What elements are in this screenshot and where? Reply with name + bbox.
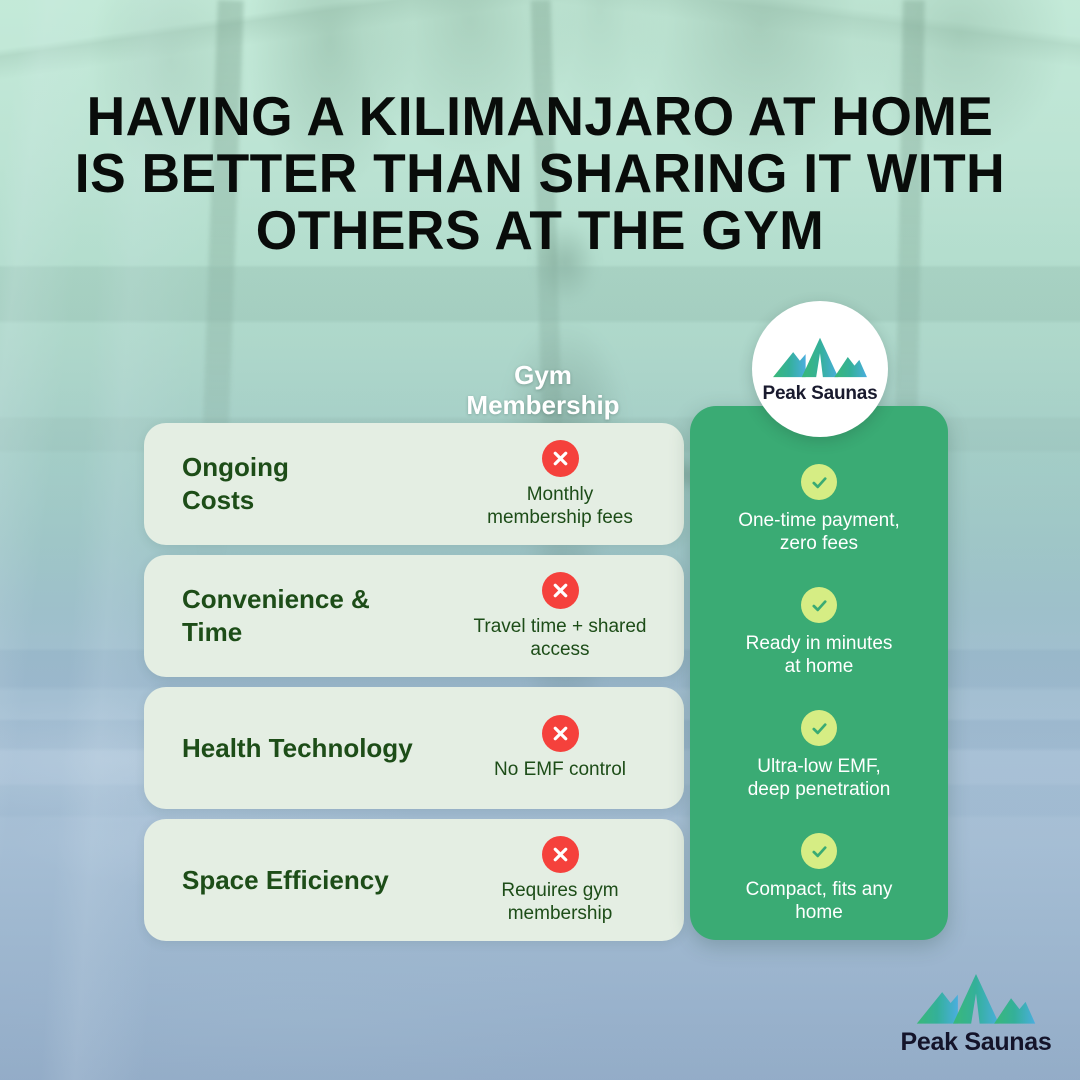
row-label-line-1: Space Efficiency	[182, 864, 444, 897]
row-label-line-2: Time	[182, 616, 444, 649]
row-gym-text-line-1: Requires gym	[501, 879, 618, 902]
column-header-gym-line-1: Gym	[418, 360, 668, 390]
panel-text-line-2: at home	[746, 655, 893, 678]
brand-wordmark: Peak Saunas	[901, 1028, 1052, 1057]
row-label-line-1: Health Technology	[182, 732, 444, 765]
panel-text-line-1: Ready in minutes	[746, 632, 893, 655]
row-label: Ongoing Costs	[144, 451, 444, 517]
x-circle-icon	[542, 715, 579, 752]
row-gym-cell: Travel time + shared access	[444, 572, 684, 661]
panel-cell: Ultra-low EMF, deep penetration	[690, 694, 948, 817]
row-label-line-1: Convenience &	[182, 583, 444, 616]
comparison-rows: Ongoing Costs Monthly membership fees Co…	[144, 423, 684, 951]
panel-text: Compact, fits any home	[746, 878, 893, 924]
row-gym-text: Travel time + shared access	[473, 615, 646, 661]
panel-cell: Compact, fits any home	[690, 817, 948, 940]
page-title: HAVING A KILIMANJARO AT HOME IS BETTER T…	[65, 88, 1016, 259]
brand-logo-footer: Peak Saunas	[888, 968, 1064, 1057]
headline-line-2: IS BETTER THAN SHARING IT WITH	[65, 145, 1016, 202]
headline-line-1: HAVING A KILIMANJARO AT HOME	[65, 88, 1016, 145]
row-label: Convenience & Time	[144, 583, 444, 649]
panel-text: Ultra-low EMF, deep penetration	[748, 755, 891, 801]
headline-line-3: OTHERS AT THE GYM	[65, 202, 1016, 259]
column-header-gym-line-2: Membership	[418, 390, 668, 420]
row-gym-text-line-2: membership fees	[487, 506, 633, 529]
panel-text: One-time payment, zero fees	[738, 509, 900, 555]
row-label: Health Technology	[144, 732, 444, 765]
brand-badge: Peak Saunas	[752, 301, 888, 437]
panel-text-line-1: One-time payment,	[738, 509, 900, 532]
panel-text-line-2: home	[746, 901, 893, 924]
row-gym-text-line-1: Monthly	[487, 483, 633, 506]
row-gym-cell: No EMF control	[444, 715, 684, 781]
peak-saunas-panel: One-time payment, zero fees Ready in min…	[690, 406, 948, 940]
row-gym-cell: Monthly membership fees	[444, 440, 684, 529]
row-gym-text-line-1: No EMF control	[494, 758, 626, 781]
panel-text: Ready in minutes at home	[746, 632, 893, 678]
brand-wordmark: Peak Saunas	[762, 383, 877, 405]
table-row: Health Technology No EMF control	[144, 687, 684, 809]
row-gym-text-line-1: Travel time + shared	[473, 615, 646, 638]
panel-text-line-2: zero fees	[738, 532, 900, 555]
row-label-line-2: Costs	[182, 484, 444, 517]
table-row: Ongoing Costs Monthly membership fees	[144, 423, 684, 545]
column-header-gym: Gym Membership	[418, 360, 668, 420]
table-row: Convenience & Time Travel time + shared …	[144, 555, 684, 677]
row-gym-text: Requires gym membership	[501, 879, 618, 925]
x-circle-icon	[542, 836, 579, 873]
panel-text-line-1: Ultra-low EMF,	[748, 755, 891, 778]
mountain-icon	[772, 333, 868, 379]
x-circle-icon	[542, 572, 579, 609]
panel-text-line-2: deep penetration	[748, 778, 891, 801]
row-gym-text: No EMF control	[494, 758, 626, 781]
panel-text-line-1: Compact, fits any	[746, 878, 893, 901]
table-row: Space Efficiency Requires gym membership	[144, 819, 684, 941]
x-circle-icon	[542, 440, 579, 477]
row-gym-text: Monthly membership fees	[487, 483, 633, 529]
row-gym-text-line-2: access	[473, 638, 646, 661]
check-circle-icon	[801, 464, 837, 500]
row-label: Space Efficiency	[144, 864, 444, 897]
row-gym-cell: Requires gym membership	[444, 836, 684, 925]
row-label-line-1: Ongoing	[182, 451, 444, 484]
row-gym-text-line-2: membership	[501, 902, 618, 925]
infographic-canvas: HAVING A KILIMANJARO AT HOME IS BETTER T…	[0, 0, 1080, 1080]
mountain-icon	[911, 968, 1041, 1026]
check-circle-icon	[801, 710, 837, 746]
check-circle-icon	[801, 587, 837, 623]
check-circle-icon	[801, 833, 837, 869]
panel-cell: Ready in minutes at home	[690, 571, 948, 694]
